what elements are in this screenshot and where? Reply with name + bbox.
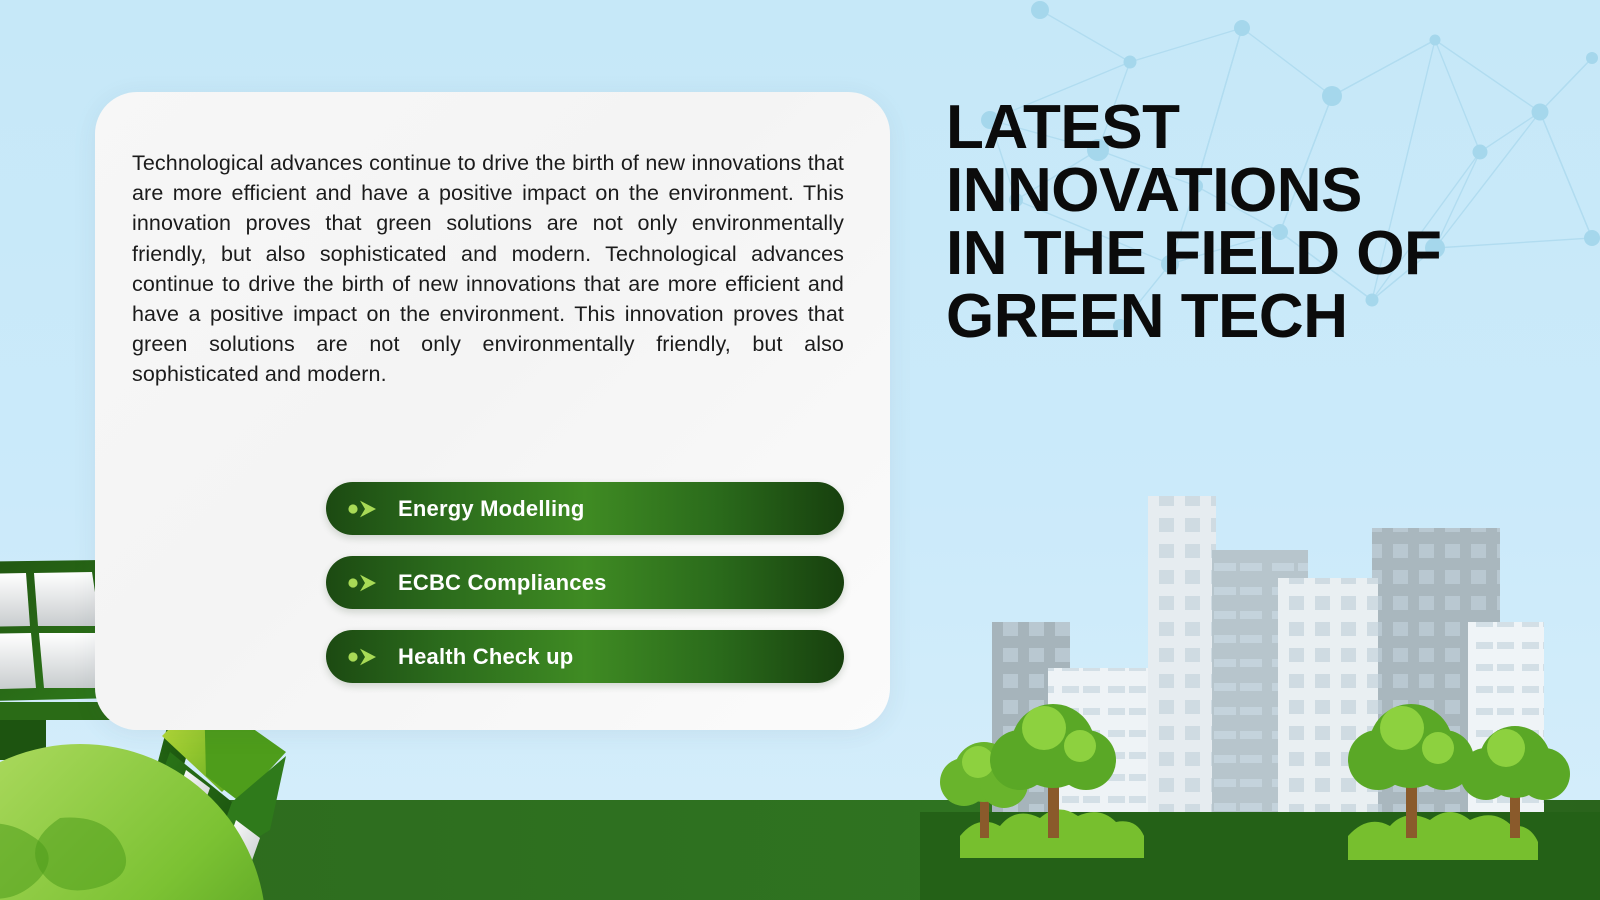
button-label: Health Check up: [398, 644, 573, 670]
body-paragraph: Technological advances continue to drive…: [132, 148, 844, 390]
page-title: LATEST INNOVATIONS IN THE FIELD OF GREEN…: [946, 96, 1546, 348]
button-energy-modelling[interactable]: Energy Modelling: [326, 482, 844, 535]
arrow-right-icon: [348, 499, 382, 519]
content-card: Technological advances continue to drive…: [95, 92, 890, 730]
headline-line-2: INNOVATIONS: [946, 159, 1546, 222]
headline-line-3: IN THE FIELD OF: [946, 222, 1546, 285]
button-label: ECBC Compliances: [398, 570, 607, 596]
action-button-list: Energy Modelling ECBC Compliances Health…: [326, 482, 844, 683]
arrow-right-icon: [348, 647, 382, 667]
poster-stage: Technological advances continue to drive…: [0, 0, 1600, 900]
headline-line-1: LATEST: [946, 96, 1546, 159]
headline-line-4: GREEN TECH: [946, 285, 1546, 348]
button-health-check-up[interactable]: Health Check up: [326, 630, 844, 683]
button-label: Energy Modelling: [398, 496, 585, 522]
arrow-right-icon: [348, 573, 382, 593]
button-ecbc-compliances[interactable]: ECBC Compliances: [326, 556, 844, 609]
green-city-illustration: [920, 460, 1600, 900]
